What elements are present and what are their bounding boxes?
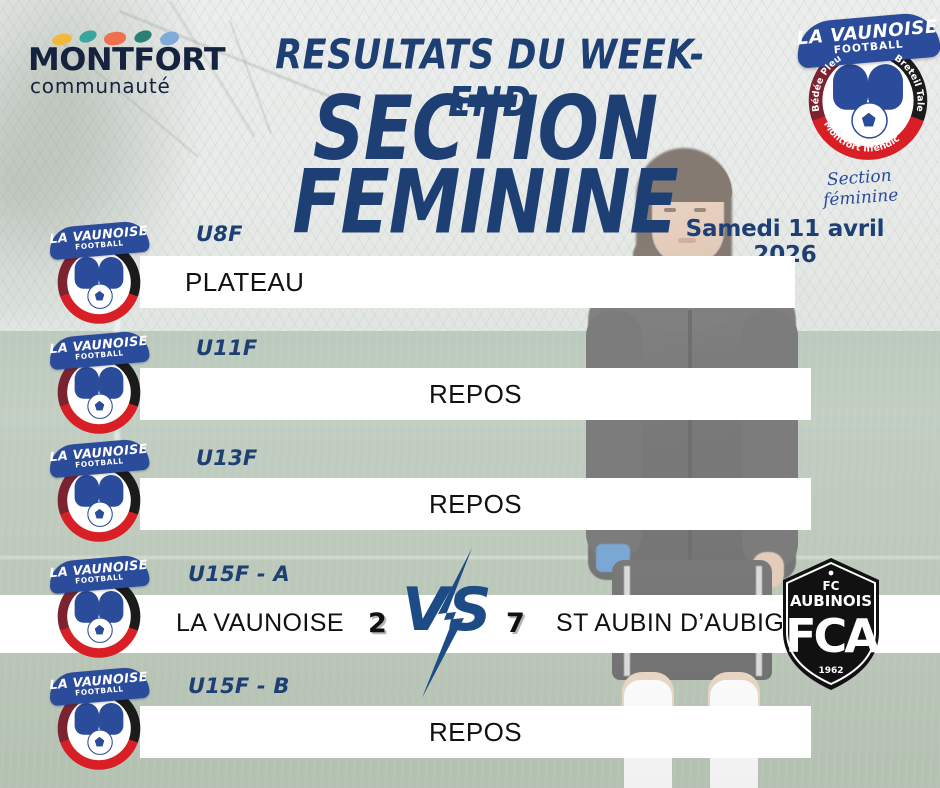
vs-badge: VS [398,548,508,698]
crest-inner [822,55,913,146]
status-bar: PLATEAU [140,256,795,308]
status-text: REPOS [140,717,811,748]
category-label: U13F [196,446,257,470]
crest-banner: LA VAUNOISE FOOTBALL [795,11,940,69]
aubinois-line1: FC [822,579,839,593]
status-text: PLATEAU [185,267,304,298]
page-title-section-line2: FEMININE [250,166,720,240]
status-text: REPOS [140,379,811,410]
aubinois-year: 1962 [818,666,843,676]
results-poster: MONTFORT communauté RESULTATS DU WEEK-EN… [0,0,940,788]
montfort-communaute-logo: MONTFORT communauté [28,30,188,97]
la-vaunoise-crest-icon: LA VAUNOISEFOOTBALL [46,332,152,438]
la-vaunoise-crest-icon: LA VAUNOISEFOOTBALL [46,440,152,546]
status-bar: REPOS [140,478,811,530]
category-label: U15F - B [188,674,290,698]
header-club-crest: LA VAUNOISE FOOTBALL Bédée Pleumeleuc Br… [792,14,940,166]
crest-football-icon [851,102,887,138]
away-score: 7 [506,608,525,639]
category-label: U8F [196,222,243,246]
category-label: U15F - A [188,562,290,586]
aubinois-monogram: FCA [785,609,880,663]
montfort-logo-subtitle: communauté [30,76,188,97]
la-vaunoise-crest-icon: LA VAUNOISEFOOTBALL [46,556,152,662]
page-title-section: SECTION FEMININE [250,92,720,240]
status-bar: REPOS [140,706,811,758]
home-score: 2 [368,608,387,639]
status-bar: REPOS [140,368,811,420]
status-text: REPOS [140,489,811,520]
home-team-name: LA VAUNOISE [176,609,344,638]
crest-signature: Section féminine [799,164,921,212]
category-label: U11F [196,336,257,360]
aubinois-line2: AUBINOIS [790,592,872,610]
montfort-logo-name: MONTFORT [28,46,193,75]
fc-aubinois-crest-icon: FC AUBINOIS FCA 1962 [776,556,886,692]
la-vaunoise-crest-icon: LA VAUNOISE FOOTBALL Bédée Pleumeleuc Br… [792,14,940,166]
la-vaunoise-crest-icon: LA VAUNOISEFOOTBALL [46,668,152,774]
vs-text: VS [402,575,492,645]
la-vaunoise-crest-icon: LA VAUNOISEFOOTBALL [46,222,152,328]
